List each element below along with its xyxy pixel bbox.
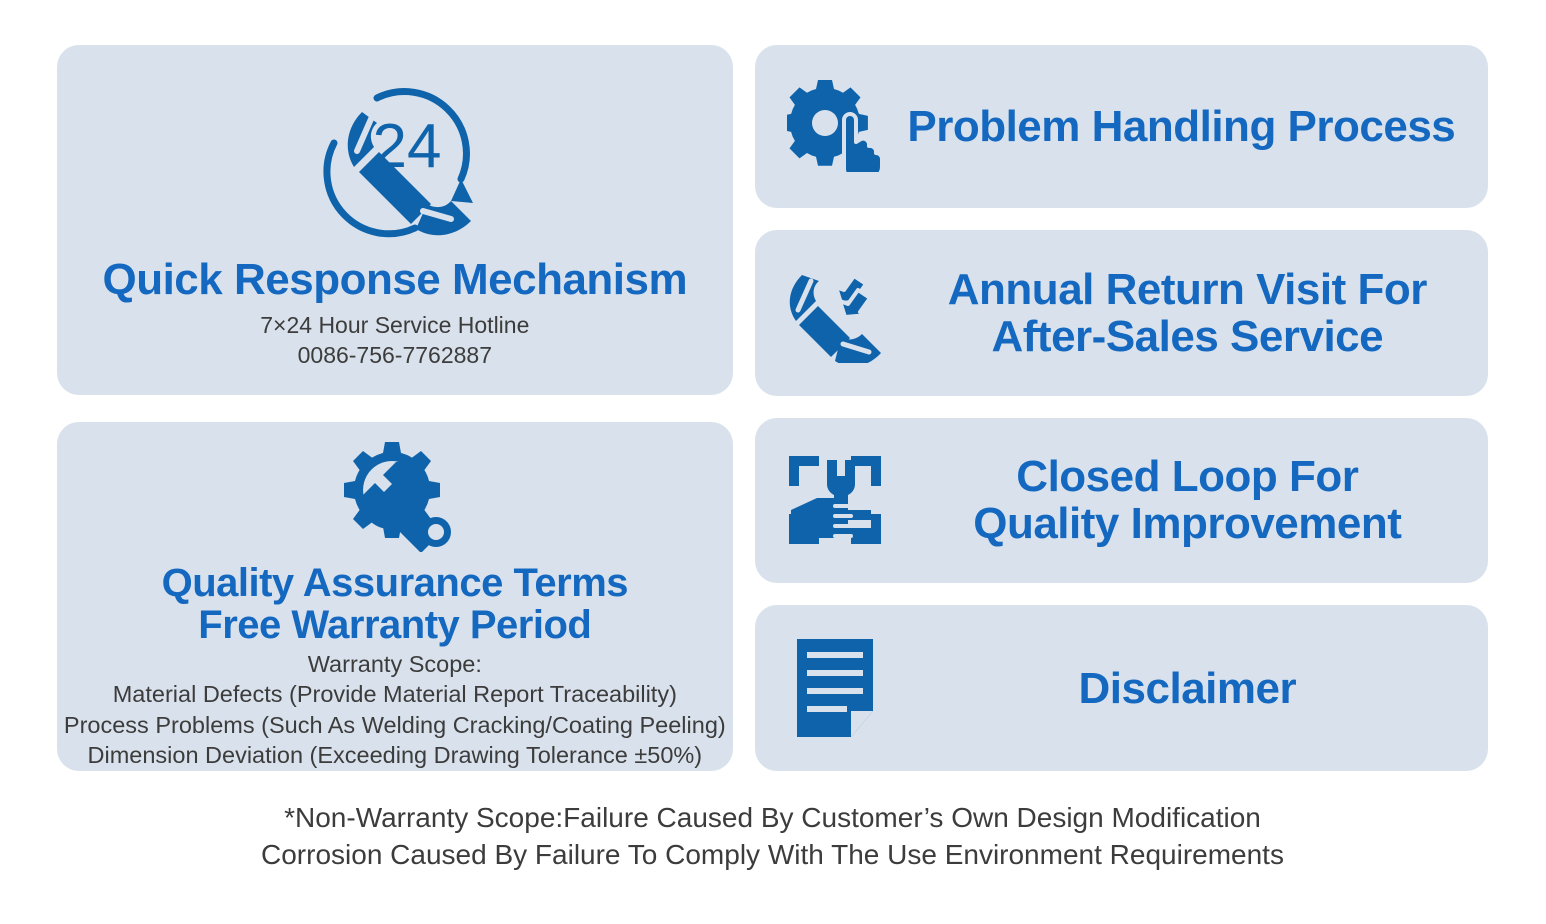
footnote-line-2: Corrosion Caused By Failure To Comply Wi… (57, 836, 1488, 873)
warranty-scope-item-3: Dimension Deviation (Exceeding Drawing T… (64, 740, 726, 771)
title-line-2: Free Warranty Period (162, 604, 628, 646)
warranty-scope-item-2: Process Problems (Such As Welding Cracki… (64, 710, 726, 741)
gear-hand-click-icon (783, 80, 887, 172)
card-title: Problem Handling Process (893, 103, 1488, 150)
card-title: Quick Response Mechanism (102, 257, 687, 304)
footnote-line-1: *Non-Warranty Scope:Failure Caused By Cu… (57, 799, 1488, 836)
hotline-number: 0086-756-7762887 (260, 340, 529, 371)
title-line-2: Quality Improvement (905, 500, 1470, 547)
cards-grid: 24 Quick Response Mechanism 7×24 Hour Se… (57, 45, 1488, 771)
card-closed-loop-quality-improvement[interactable]: Closed Loop For Quality Improvement (755, 418, 1488, 584)
title-line-1: Annual Return Visit For (905, 266, 1470, 313)
warranty-scope-list: Warranty Scope: Material Defects (Provid… (64, 649, 726, 771)
card-disclaimer[interactable]: Disclaimer (755, 605, 1488, 771)
card-title: Quality Assurance Terms Free Warranty Pe… (162, 562, 628, 647)
after-sales-service-infographic: 24 Quick Response Mechanism 7×24 Hour Se… (0, 0, 1546, 924)
card-title: Disclaimer (905, 665, 1488, 712)
non-warranty-footnote: *Non-Warranty Scope:Failure Caused By Cu… (57, 799, 1488, 873)
gear-wrench-icon (333, 440, 457, 552)
phone-exchange-arrows-icon (783, 263, 887, 363)
phone-24h-icon: 24 (311, 79, 479, 239)
card-problem-handling-process[interactable]: Problem Handling Process (755, 45, 1488, 208)
card-annual-return-visit[interactable]: Annual Return Visit For After-Sales Serv… (755, 230, 1488, 396)
document-lines-icon (783, 639, 887, 737)
card-title: Closed Loop For Quality Improvement (905, 453, 1488, 547)
card-subtitle: 7×24 Hour Service Hotline 0086-756-77628… (260, 310, 529, 371)
card-quality-assurance-terms[interactable]: Quality Assurance Terms Free Warranty Pe… (57, 422, 733, 771)
left-column: 24 Quick Response Mechanism 7×24 Hour Se… (57, 45, 733, 771)
warranty-scope-item-1: Material Defects (Provide Material Repor… (64, 679, 726, 710)
title-line-1: Quality Assurance Terms (162, 562, 628, 604)
right-column: Problem Handling Process (755, 45, 1488, 771)
warranty-scope-label: Warranty Scope: (64, 649, 726, 680)
hotline-label: 7×24 Hour Service Hotline (260, 310, 529, 341)
hand-wrench-frame-icon (783, 452, 887, 548)
svg-text:24: 24 (372, 112, 441, 181)
title-line-2: After-Sales Service (905, 313, 1470, 360)
card-title: Annual Return Visit For After-Sales Serv… (905, 266, 1488, 360)
title-line-1: Closed Loop For (905, 453, 1470, 500)
card-quick-response-mechanism[interactable]: 24 Quick Response Mechanism 7×24 Hour Se… (57, 45, 733, 395)
